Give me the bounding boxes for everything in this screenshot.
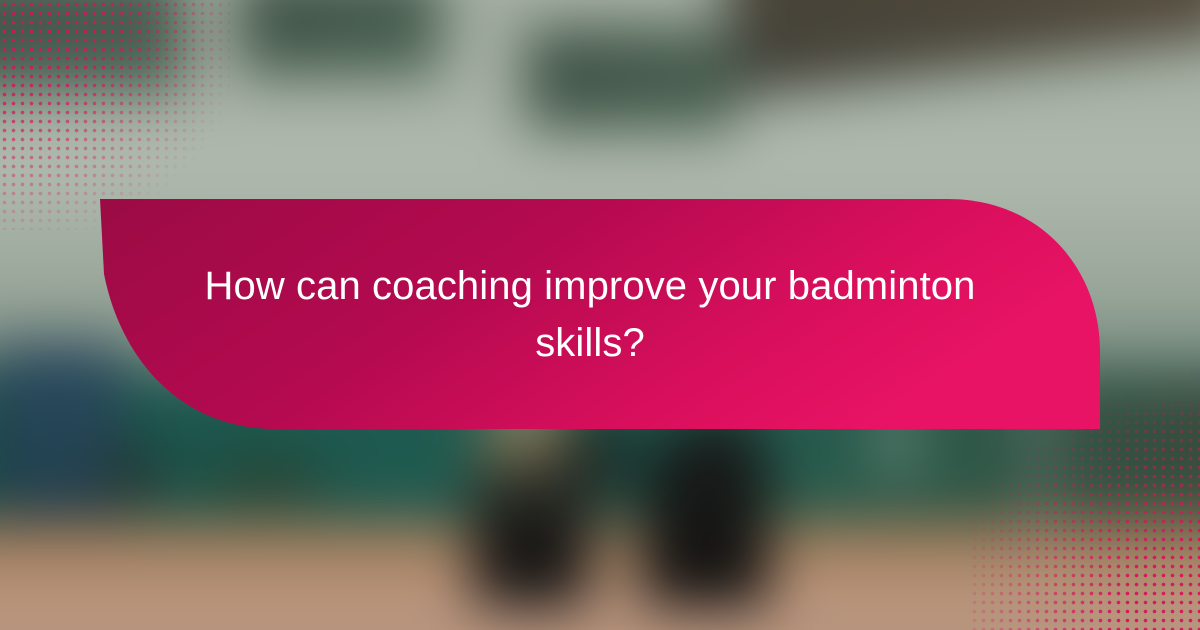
poster-card: How can coaching improve your badminton …	[0, 0, 1200, 630]
page-title: How can coaching improve your badminton …	[190, 199, 990, 430]
headline-banner: How can coaching improve your badminton …	[0, 0, 1200, 630]
